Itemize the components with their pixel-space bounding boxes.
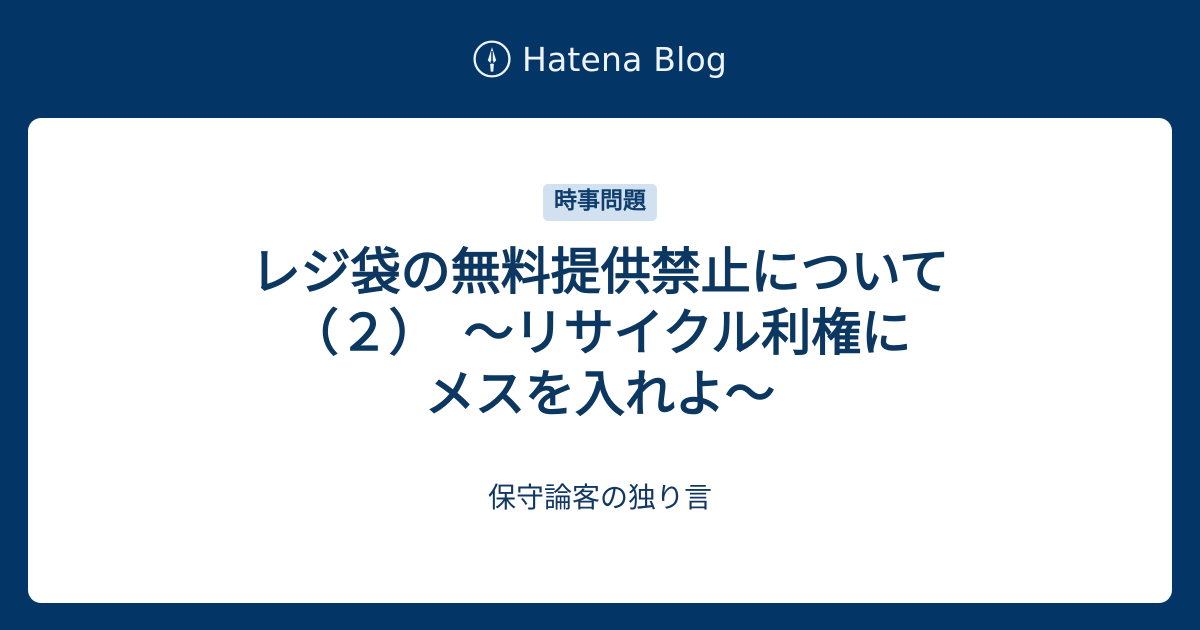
- entry-card-content: 時事問題 レジ袋の無料提供禁止について （２） ～リサイクル利権に メスを入れよ…: [28, 118, 1172, 515]
- entry-card: 時事問題 レジ袋の無料提供禁止について （２） ～リサイクル利権に メスを入れよ…: [28, 118, 1172, 603]
- hatena-blog-brand-header: Hatena Blog: [0, 0, 1200, 118]
- hatena-pen-nib-icon: [473, 40, 511, 78]
- entry-title-line-2: （２） ～リサイクル利権に: [68, 303, 1132, 364]
- entry-title-line-3: メスを入れよ～: [68, 364, 1132, 425]
- category-tag-row: 時事問題: [28, 184, 1172, 221]
- entry-title: レジ袋の無料提供禁止について （２） ～リサイクル利権に メスを入れよ～: [28, 242, 1172, 425]
- entry-title-line-1: レジ袋の無料提供禁止について: [68, 242, 1132, 303]
- category-tag[interactable]: 時事問題: [543, 184, 657, 221]
- hatena-blog-wordmark: Hatena Blog: [522, 43, 727, 76]
- ogp-card-root: Hatena Blog 時事問題 レジ袋の無料提供禁止について （２） ～リサイ…: [0, 0, 1200, 630]
- blog-name[interactable]: 保守論客の独り言: [488, 481, 712, 515]
